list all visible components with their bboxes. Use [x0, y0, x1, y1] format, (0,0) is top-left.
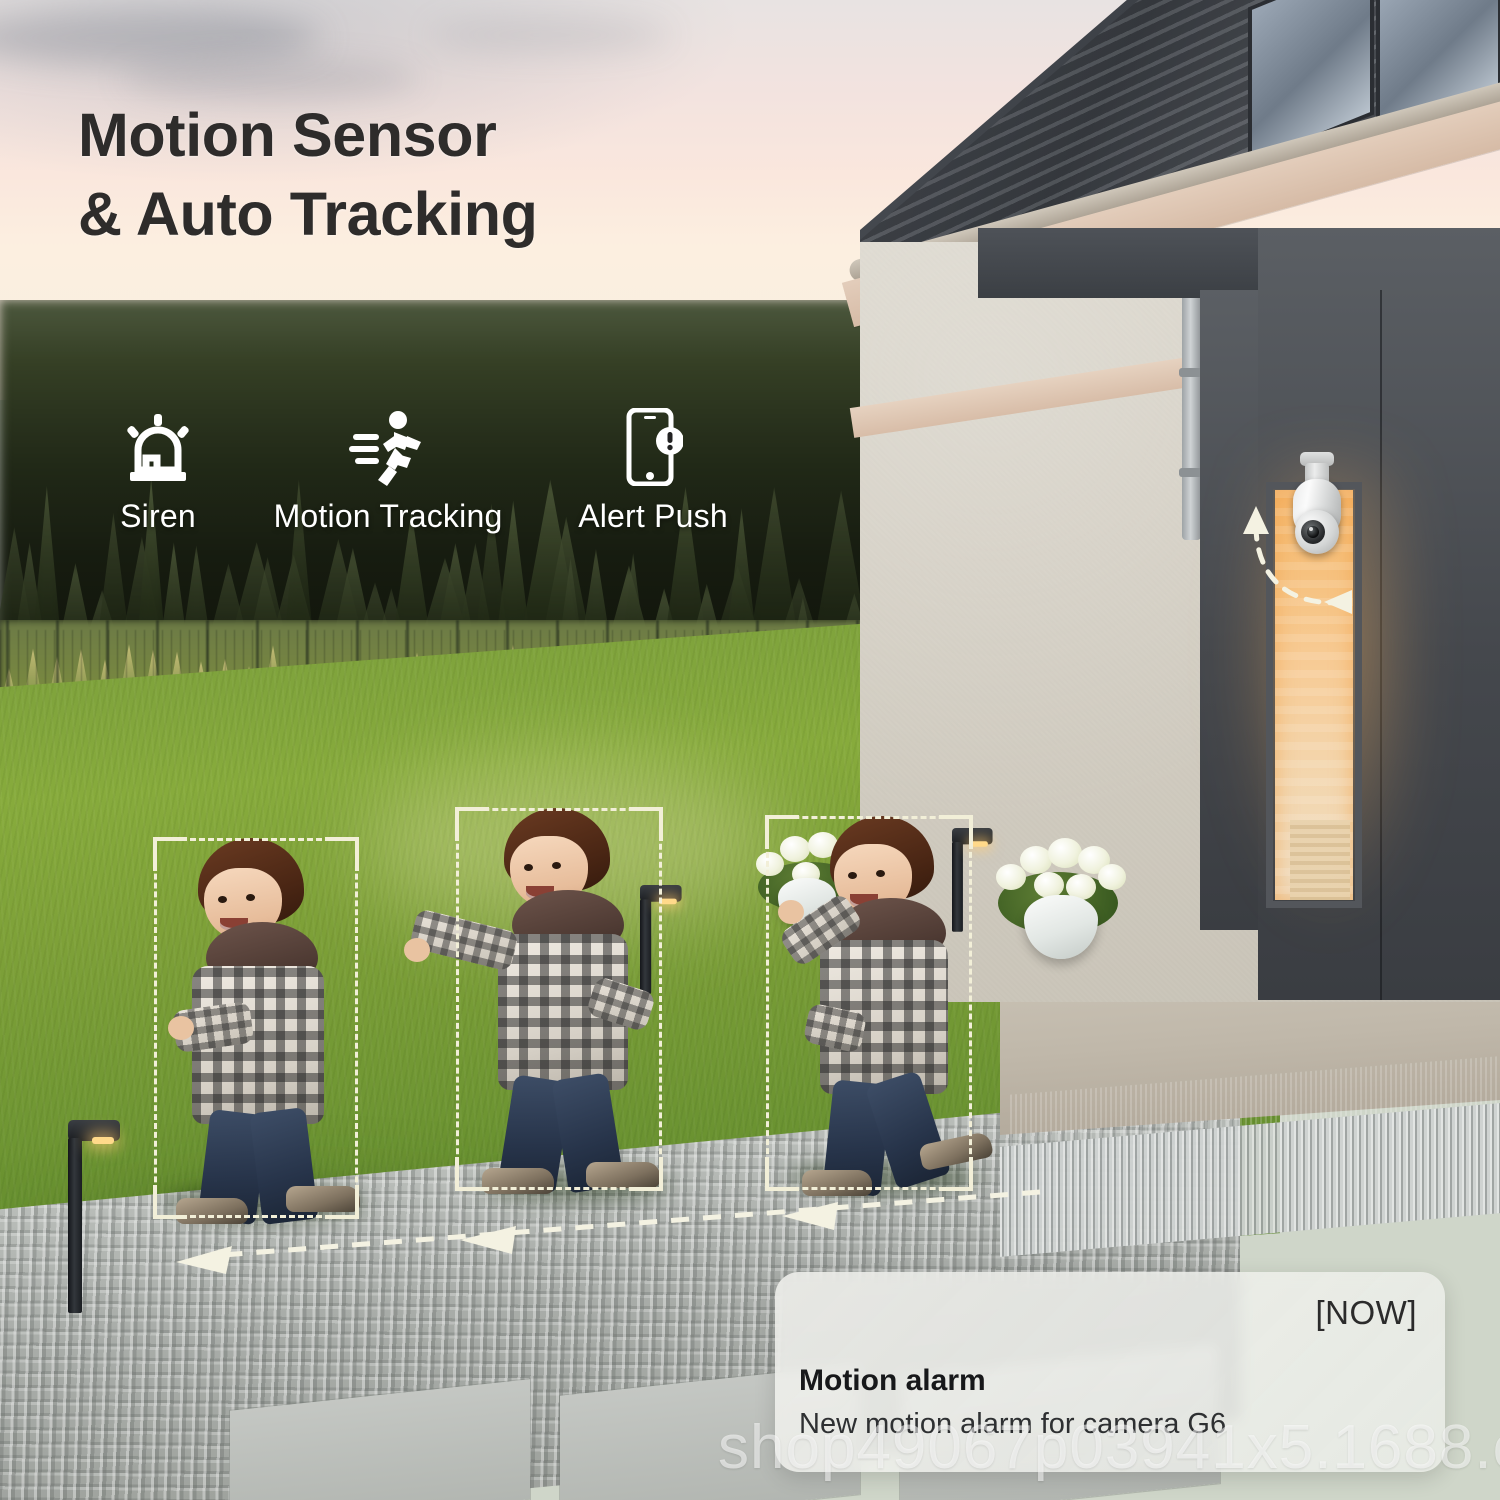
- tracking-corner: [455, 807, 489, 841]
- feature-label: Motion Tracking: [274, 498, 503, 535]
- tracking-corner: [765, 815, 799, 849]
- tracking-corner: [939, 815, 973, 849]
- phone-alert-icon: [623, 408, 683, 486]
- feature-label: Alert Push: [578, 498, 728, 535]
- feature-label: Siren: [120, 498, 196, 535]
- cloud: [430, 18, 670, 52]
- cloud: [120, 60, 420, 98]
- headline-line-2: & Auto Tracking: [78, 175, 537, 254]
- feature-siren: Siren: [78, 408, 238, 535]
- tracking-corner: [629, 807, 663, 841]
- tracking-corner: [325, 837, 359, 871]
- notification-timestamp: [NOW]: [1316, 1294, 1417, 1332]
- tracking-box: [766, 816, 972, 1190]
- watermark: shop49067p03941x5.1688.com: [718, 1412, 1500, 1483]
- feature-alert-push: Alert Push: [538, 408, 768, 535]
- feature-motion-tracking: Motion Tracking: [238, 408, 538, 535]
- notification-title: Motion alarm: [799, 1364, 986, 1398]
- tracking-box: [456, 808, 662, 1190]
- page-title: Motion Sensor & Auto Tracking: [78, 96, 537, 255]
- tracking-corner: [153, 837, 187, 871]
- downspout: [1182, 278, 1201, 540]
- running-person-motion-icon: [347, 408, 429, 486]
- tracking-box: [154, 838, 358, 1218]
- headline-line-1: Motion Sensor: [78, 96, 537, 175]
- product-feature-image: []: [0, 0, 1500, 1500]
- siren-icon: [121, 408, 195, 486]
- feature-list: Siren Motion Tracking: [78, 408, 768, 535]
- child-hand: [404, 938, 430, 962]
- camera-pan-rotation-arrow: [1228, 500, 1378, 620]
